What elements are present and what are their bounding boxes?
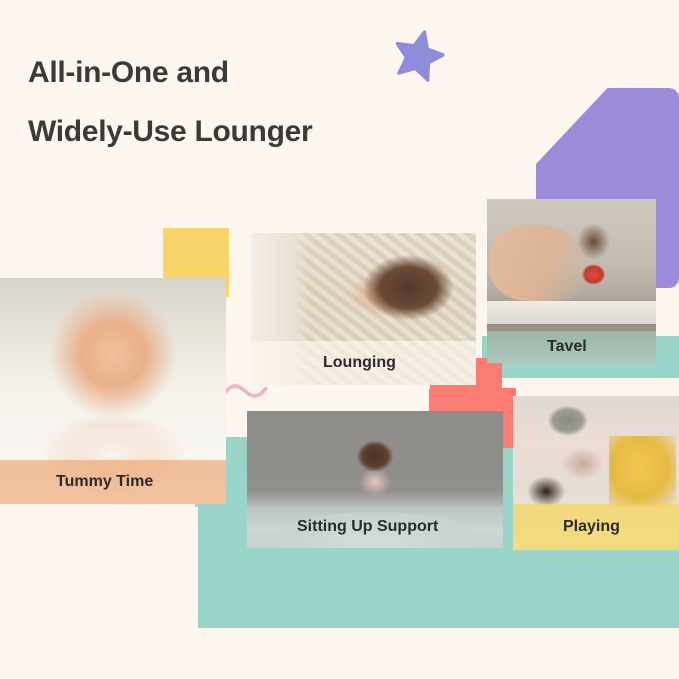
caption-tavel: Tavel [547, 338, 587, 356]
feature-card-tavel[interactable]: Tavel [487, 199, 656, 363]
caption-band-tavel: Tavel [487, 331, 656, 363]
pink-squiggle-icon [222, 383, 268, 399]
caption-playing: Playing [563, 518, 620, 536]
page-title-line-2: Widely-Use Lounger [28, 103, 498, 162]
feature-card-lounging[interactable]: Lounging [251, 233, 476, 385]
caption-sitting-up-support: Sitting Up Support [297, 518, 438, 536]
caption-lounging: Lounging [323, 354, 396, 372]
caption-band-tummy-time: Tummy Time [0, 460, 226, 504]
caption-band-lounging: Lounging [251, 341, 476, 385]
feature-card-tummy-time[interactable]: Tummy Time [0, 278, 226, 504]
caption-band-sitting-up-support: Sitting Up Support [247, 506, 503, 548]
caption-tummy-time: Tummy Time [56, 473, 153, 491]
feature-card-sitting-up-support[interactable]: Sitting Up Support [247, 411, 503, 548]
feature-card-playing[interactable]: Playing [513, 396, 679, 550]
product-feature-infographic: All-in-One and Widely-Use Lounger Tummy … [0, 0, 679, 679]
caption-band-playing: Playing [513, 504, 679, 550]
